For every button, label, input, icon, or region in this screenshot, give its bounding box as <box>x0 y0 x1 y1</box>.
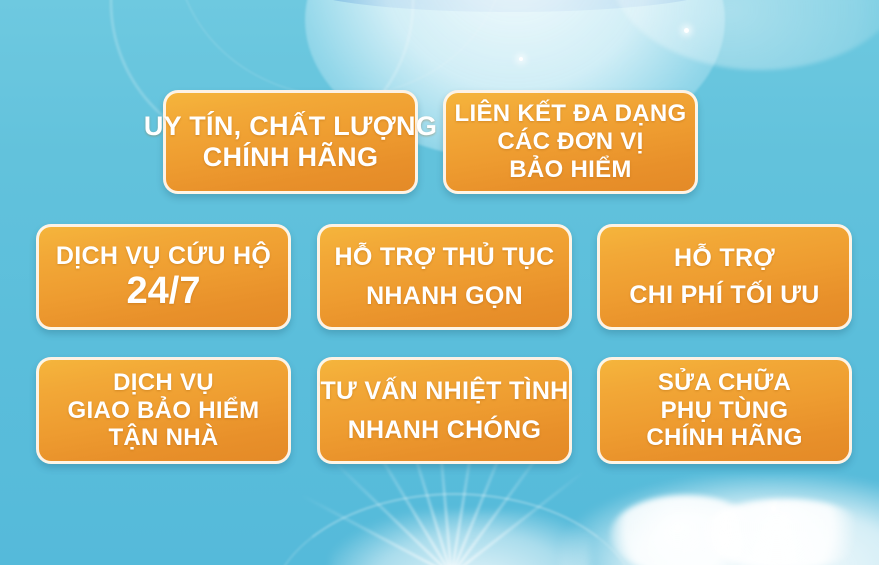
card-line: LIÊN KẾT ĐA DẠNG <box>455 100 687 128</box>
card-line: HỖ TRỢ <box>674 244 775 273</box>
card-line: TƯ VẤN NHIỆT TÌNH <box>320 377 568 406</box>
card-line: CHÍNH HÃNG <box>646 424 802 452</box>
card-line-emphasis: 24/7 <box>127 271 201 313</box>
card-line: CHÍNH HÃNG <box>203 142 379 173</box>
card-line: BẢO HIỂM <box>509 156 631 184</box>
card-line: CÁC ĐƠN VỊ <box>497 128 643 156</box>
feature-card-uy-tin-chat-luong[interactable]: UY TÍN, CHẤT LƯỢNG CHÍNH HÃNG <box>163 90 418 194</box>
promo-banner: UY TÍN, CHẤT LƯỢNG CHÍNH HÃNG LIÊN KẾT Đ… <box>0 0 879 565</box>
card-line: NHANH GỌN <box>366 282 523 311</box>
feature-card-grid: UY TÍN, CHẤT LƯỢNG CHÍNH HÃNG LIÊN KẾT Đ… <box>0 0 879 565</box>
feature-card-ho-tro-chi-phi[interactable]: HỖ TRỢ CHI PHÍ TỐI ƯU <box>597 224 852 330</box>
card-line: SỬA CHỮA <box>658 369 791 397</box>
feature-card-giao-bao-hiem-tan-nha[interactable]: DỊCH VỤ GIAO BẢO HIỂM TẬN NHÀ <box>36 357 291 464</box>
card-line: CHI PHÍ TỐI ƯU <box>629 281 819 310</box>
card-line: GIAO BẢO HIỂM <box>68 397 260 425</box>
feature-card-ho-tro-thu-tuc[interactable]: HỖ TRỢ THỦ TỤC NHANH GỌN <box>317 224 572 330</box>
card-line: TẬN NHÀ <box>108 424 218 452</box>
card-line: DỊCH VỤ CỨU HỘ <box>56 242 271 271</box>
feature-card-tu-van-nhiet-tinh[interactable]: TƯ VẤN NHIỆT TÌNH NHANH CHÓNG <box>317 357 572 464</box>
feature-card-lien-ket-da-dang[interactable]: LIÊN KẾT ĐA DẠNG CÁC ĐƠN VỊ BẢO HIỂM <box>443 90 698 194</box>
card-line: HỖ TRỢ THỦ TỤC <box>335 243 555 272</box>
feature-card-dich-vu-cuu-ho[interactable]: DỊCH VỤ CỨU HỘ 24/7 <box>36 224 291 330</box>
card-line: PHỤ TÙNG <box>661 397 789 425</box>
card-line: NHANH CHÓNG <box>348 416 542 445</box>
card-line: UY TÍN, CHẤT LƯỢNG <box>144 111 437 142</box>
feature-card-sua-chua-phu-tung[interactable]: SỬA CHỮA PHỤ TÙNG CHÍNH HÃNG <box>597 357 852 464</box>
card-line: DỊCH VỤ <box>113 369 214 397</box>
